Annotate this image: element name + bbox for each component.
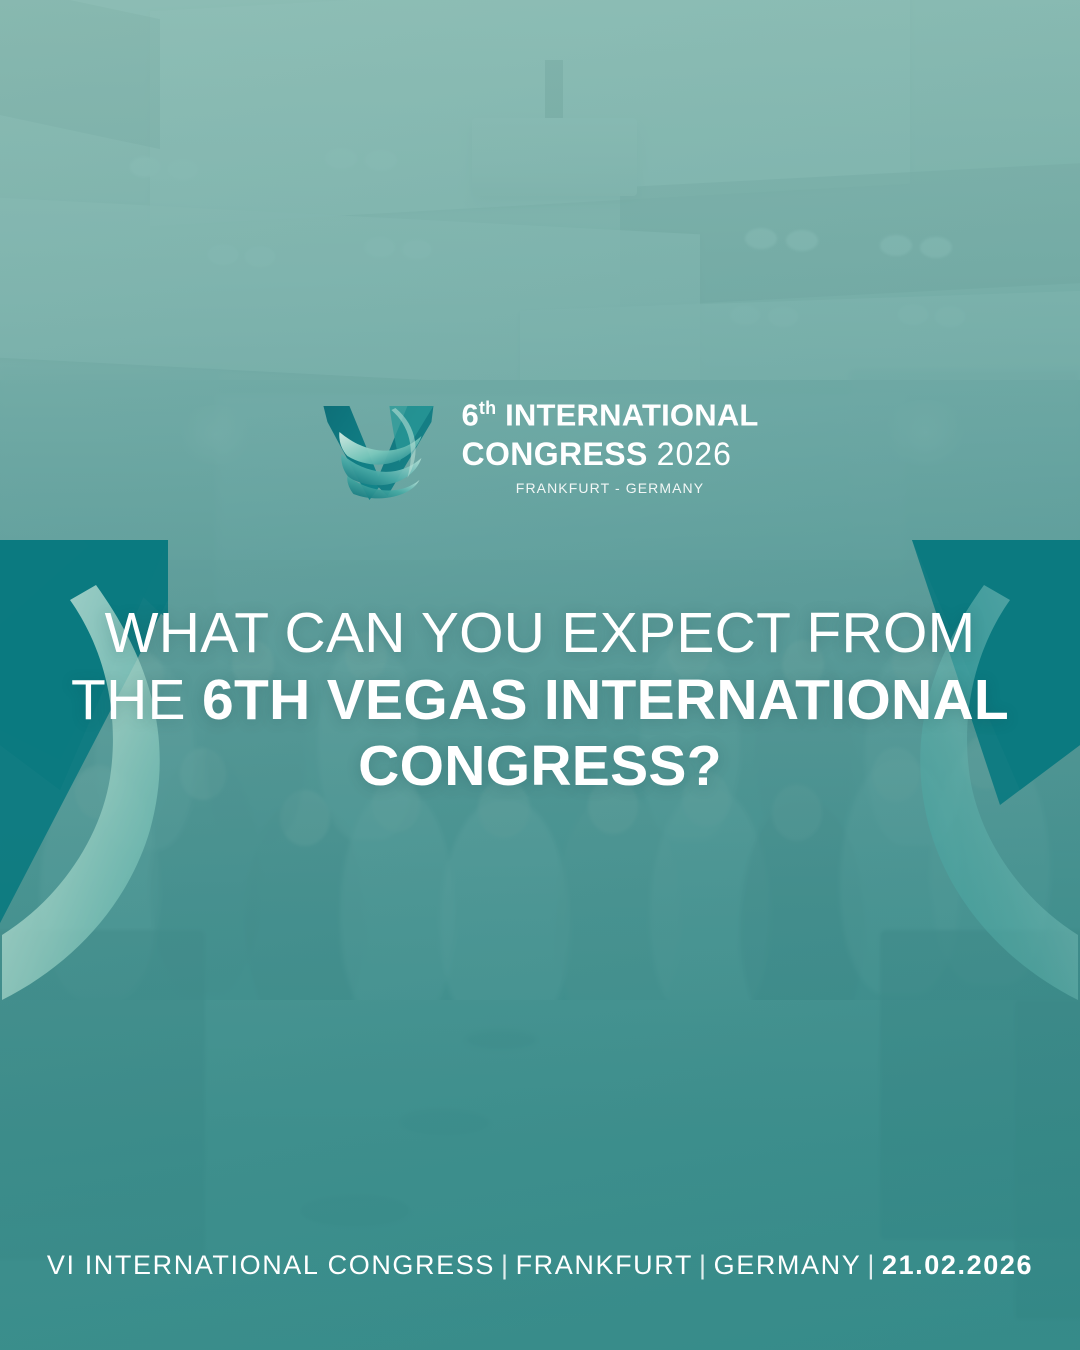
footer-date: 21.02.2026 <box>882 1250 1033 1280</box>
logo-edition-suffix: th <box>479 398 496 418</box>
congress-logo-lockup: 6th INTERNATIONAL CONGRESS 2026 FRANKFUR… <box>321 392 758 502</box>
logo-congress-word: CONGRESS <box>461 436 647 472</box>
footer-separator: | <box>693 1250 714 1280</box>
logo-location: FRANKFURT - GERMANY <box>461 481 758 495</box>
page-title: WHAT CAN YOU EXPECT FROM THE 6TH VEGAS I… <box>0 600 1080 800</box>
headline-line-one: WHAT CAN YOU EXPECT FROM <box>105 601 976 665</box>
footer-country: GERMANY <box>714 1250 862 1280</box>
footer-separator: | <box>861 1250 882 1280</box>
logo-text-block: 6th INTERNATIONAL CONGRESS 2026 FRANKFUR… <box>461 399 758 495</box>
logo-international-word: INTERNATIONAL <box>505 397 758 432</box>
footer-event-name: VI INTERNATIONAL CONGRESS <box>47 1250 495 1280</box>
footer-city: FRANKFURT <box>516 1250 693 1280</box>
headline-line-three: CONGRESS? <box>358 734 722 798</box>
logo-edition-number: 6 <box>461 397 478 432</box>
footer-separator: | <box>495 1250 516 1280</box>
poster-canvas: 6th INTERNATIONAL CONGRESS 2026 FRANKFUR… <box>0 0 1080 1350</box>
logo-year: 2026 <box>657 436 732 472</box>
event-footer-bar: VI INTERNATIONAL CONGRESS|FRANKFURT|GERM… <box>0 1250 1080 1281</box>
headline-line-two-bold: 6TH VEGAS INTERNATIONAL <box>202 668 1009 732</box>
logo-line-two: CONGRESS 2026 <box>461 438 758 470</box>
vegas-v-logo-icon <box>321 392 439 502</box>
headline-line-two-thin: THE <box>71 668 202 732</box>
logo-line-one: 6th INTERNATIONAL <box>461 399 758 430</box>
